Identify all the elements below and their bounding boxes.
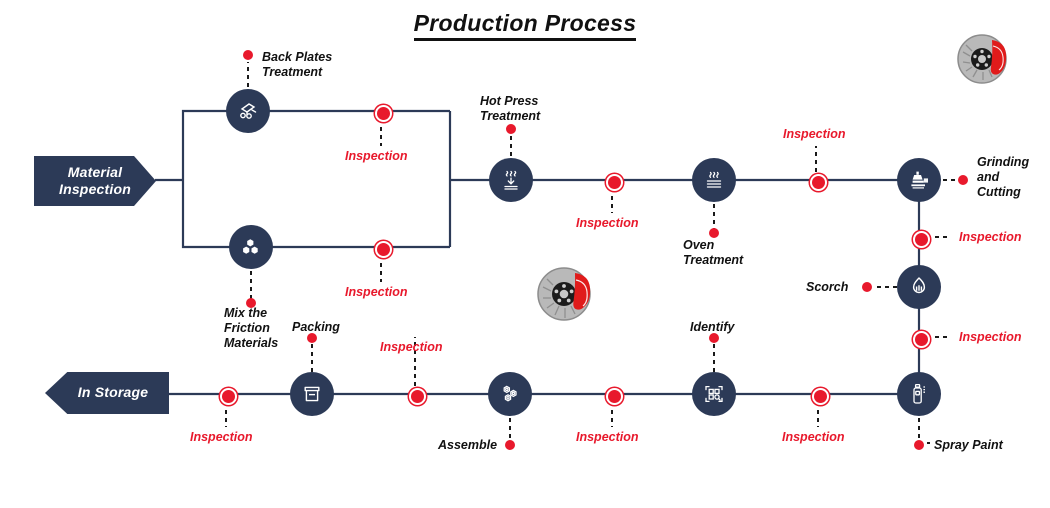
label-spray-paint: Spray Paint [934, 438, 1003, 453]
dot-grinding [958, 175, 968, 185]
label-inspection-identify: Inspection [782, 430, 845, 445]
node-scorch[interactable] [897, 265, 941, 309]
label-scorch: Scorch [806, 280, 848, 295]
flame-icon [907, 275, 931, 299]
label-identify: Identify [690, 320, 734, 335]
dot-spray-paint [914, 440, 924, 450]
box-icon [300, 382, 324, 406]
label-back-plates-treatment: Back Plates Treatment [262, 50, 332, 80]
marker-inspection-mix[interactable] [375, 241, 392, 258]
production-process-diagram: Production Process [0, 0, 1050, 508]
node-identify[interactable] [692, 372, 736, 416]
marker-inspection-back-plates[interactable] [375, 105, 392, 122]
label-inspection-hot-press: Inspection [576, 216, 639, 231]
banner-material-inspection[interactable]: Material Inspection [34, 156, 156, 206]
label-inspection-back-plates: Inspection [345, 149, 408, 164]
qr-scan-icon [702, 382, 726, 406]
dot-oven [709, 228, 719, 238]
brake-disc-center [532, 264, 608, 324]
marker-inspection-hot-press[interactable] [606, 174, 623, 191]
label-inspection-packing: Inspection [380, 340, 443, 355]
node-assemble[interactable] [488, 372, 532, 416]
node-grinding-and-cutting[interactable] [897, 158, 941, 202]
label-hot-press-treatment: Hot Press Treatment [480, 94, 540, 124]
label-inspection-assemble: Inspection [576, 430, 639, 445]
label-inspection-oven: Inspection [783, 127, 846, 142]
label-packing: Packing [292, 320, 340, 335]
dot-back-plates [243, 50, 253, 60]
marker-inspection-grinding[interactable] [913, 231, 930, 248]
node-spray-paint[interactable] [897, 372, 941, 416]
node-oven-treatment[interactable] [692, 158, 736, 202]
node-hot-press-treatment[interactable] [489, 158, 533, 202]
label-oven-treatment: Oven Treatment [683, 238, 743, 268]
label-inspection-mix: Inspection [345, 285, 408, 300]
marker-inspection-identify[interactable] [812, 388, 829, 405]
dot-assemble [505, 440, 515, 450]
flow-connectors [0, 0, 1050, 508]
banner-in-storage-label: In Storage [78, 384, 148, 401]
marker-inspection-packing[interactable] [409, 388, 426, 405]
brake-disc-top-right [952, 32, 1022, 87]
marker-inspection-oven[interactable] [810, 174, 827, 191]
grinding-icon [907, 168, 931, 192]
mix-materials-icon [239, 235, 263, 259]
label-mix-friction-materials: Mix the Friction Materials [224, 306, 278, 351]
label-assemble: Assemble [438, 438, 497, 453]
dot-hot-press [506, 124, 516, 134]
node-packing[interactable] [290, 372, 334, 416]
spray-can-icon [907, 382, 931, 406]
marker-inspection-scorch[interactable] [913, 331, 930, 348]
dot-scorch [862, 282, 872, 292]
banner-material-inspection-label: Material Inspection [34, 164, 156, 198]
back-plates-icon [236, 99, 260, 123]
marker-inspection-storage[interactable] [220, 388, 237, 405]
label-inspection-scorch: Inspection [959, 330, 1022, 345]
banner-in-storage[interactable]: In Storage [45, 372, 169, 414]
node-back-plates-treatment[interactable] [226, 89, 270, 133]
label-grinding-and-cutting: Grinding and Cutting [977, 155, 1029, 200]
hot-press-icon [499, 168, 523, 192]
oven-icon [702, 168, 726, 192]
label-inspection-grinding: Inspection [959, 230, 1022, 245]
label-inspection-storage: Inspection [190, 430, 253, 445]
marker-inspection-assemble[interactable] [606, 388, 623, 405]
bolts-icon [498, 382, 522, 406]
node-mix-friction-materials[interactable] [229, 225, 273, 269]
